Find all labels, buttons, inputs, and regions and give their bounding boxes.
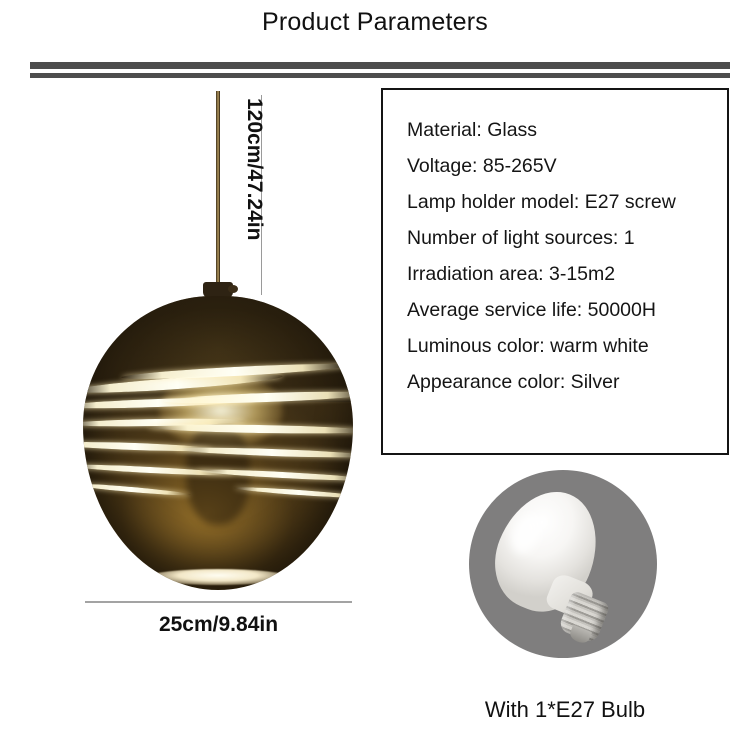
parameter-average-service-life: Average service life: 50000H bbox=[407, 292, 719, 328]
parameter-number-of-light-sources: Number of light sources: 1 bbox=[407, 220, 719, 256]
lamp-canopy-knob bbox=[228, 285, 238, 293]
light-streak bbox=[234, 486, 353, 500]
parameter-appearance-color: Appearance color: Silver bbox=[407, 364, 719, 400]
parameter-luminous-color: Luminous color: warm white bbox=[407, 328, 719, 364]
lamp-glass-globe bbox=[83, 296, 353, 590]
product-parameters-page: Product Parameters 120cm/47.24in bbox=[0, 0, 750, 750]
parameter-voltage: Voltage: 85-265V bbox=[407, 148, 719, 184]
lamp-cord bbox=[216, 91, 220, 286]
width-dimension-line bbox=[85, 601, 352, 603]
bulb-caption: With 1*E27 Bulb bbox=[380, 697, 750, 723]
parameter-irradiation-area: Irradiation area: 3-15m2 bbox=[407, 256, 719, 292]
light-streak bbox=[83, 482, 191, 497]
height-dimension-label: 120cm/47.24in bbox=[242, 98, 266, 240]
parameters-list: Material: Glass Voltage: 85-265V Lamp ho… bbox=[407, 112, 719, 400]
globe-bottom-rim-light bbox=[148, 569, 288, 585]
pendant-lamp-illustration: 120cm/47.24in 25cm/9.84in bbox=[0, 0, 381, 660]
parameters-box: Material: Glass Voltage: 85-265V Lamp ho… bbox=[381, 88, 729, 455]
parameter-material: Material: Glass bbox=[407, 112, 719, 148]
width-dimension-label: 25cm/9.84in bbox=[85, 613, 352, 637]
led-bulb-icon bbox=[469, 470, 657, 658]
parameter-lamp-holder-model: Lamp holder model: E27 screw bbox=[407, 184, 719, 220]
